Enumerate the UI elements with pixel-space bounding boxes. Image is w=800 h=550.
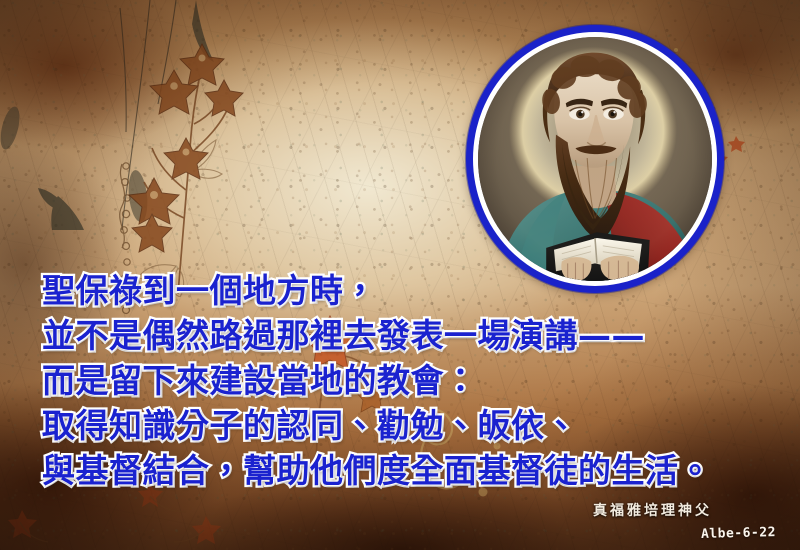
signature-author: 真福雅培理神父	[593, 500, 712, 520]
quote-line-3: 而是留下來建設當地的教會：	[42, 358, 762, 403]
saint-paul-portrait	[478, 37, 712, 281]
signature-mark: Albe-6-22	[701, 525, 776, 542]
quote-text-block: 聖保祿到一個地方時， 並不是偶然路過那裡去發表一場演講—— 而是留下來建設當地的…	[42, 268, 762, 493]
quote-line-2: 並不是偶然路過那裡去發表一場演講——	[42, 313, 762, 358]
quote-line-1: 聖保祿到一個地方時，	[42, 268, 762, 313]
quote-line-4: 取得知識分子的認同、勸勉、皈依、	[42, 403, 762, 448]
quote-poster: 聖保祿到一個地方時， 並不是偶然路過那裡去發表一場演講—— 而是留下來建設當地的…	[0, 0, 800, 550]
quote-line-5: 與基督結合，幫助他們度全面基督徒的生活。	[42, 448, 762, 493]
portrait-medallion	[466, 25, 724, 293]
